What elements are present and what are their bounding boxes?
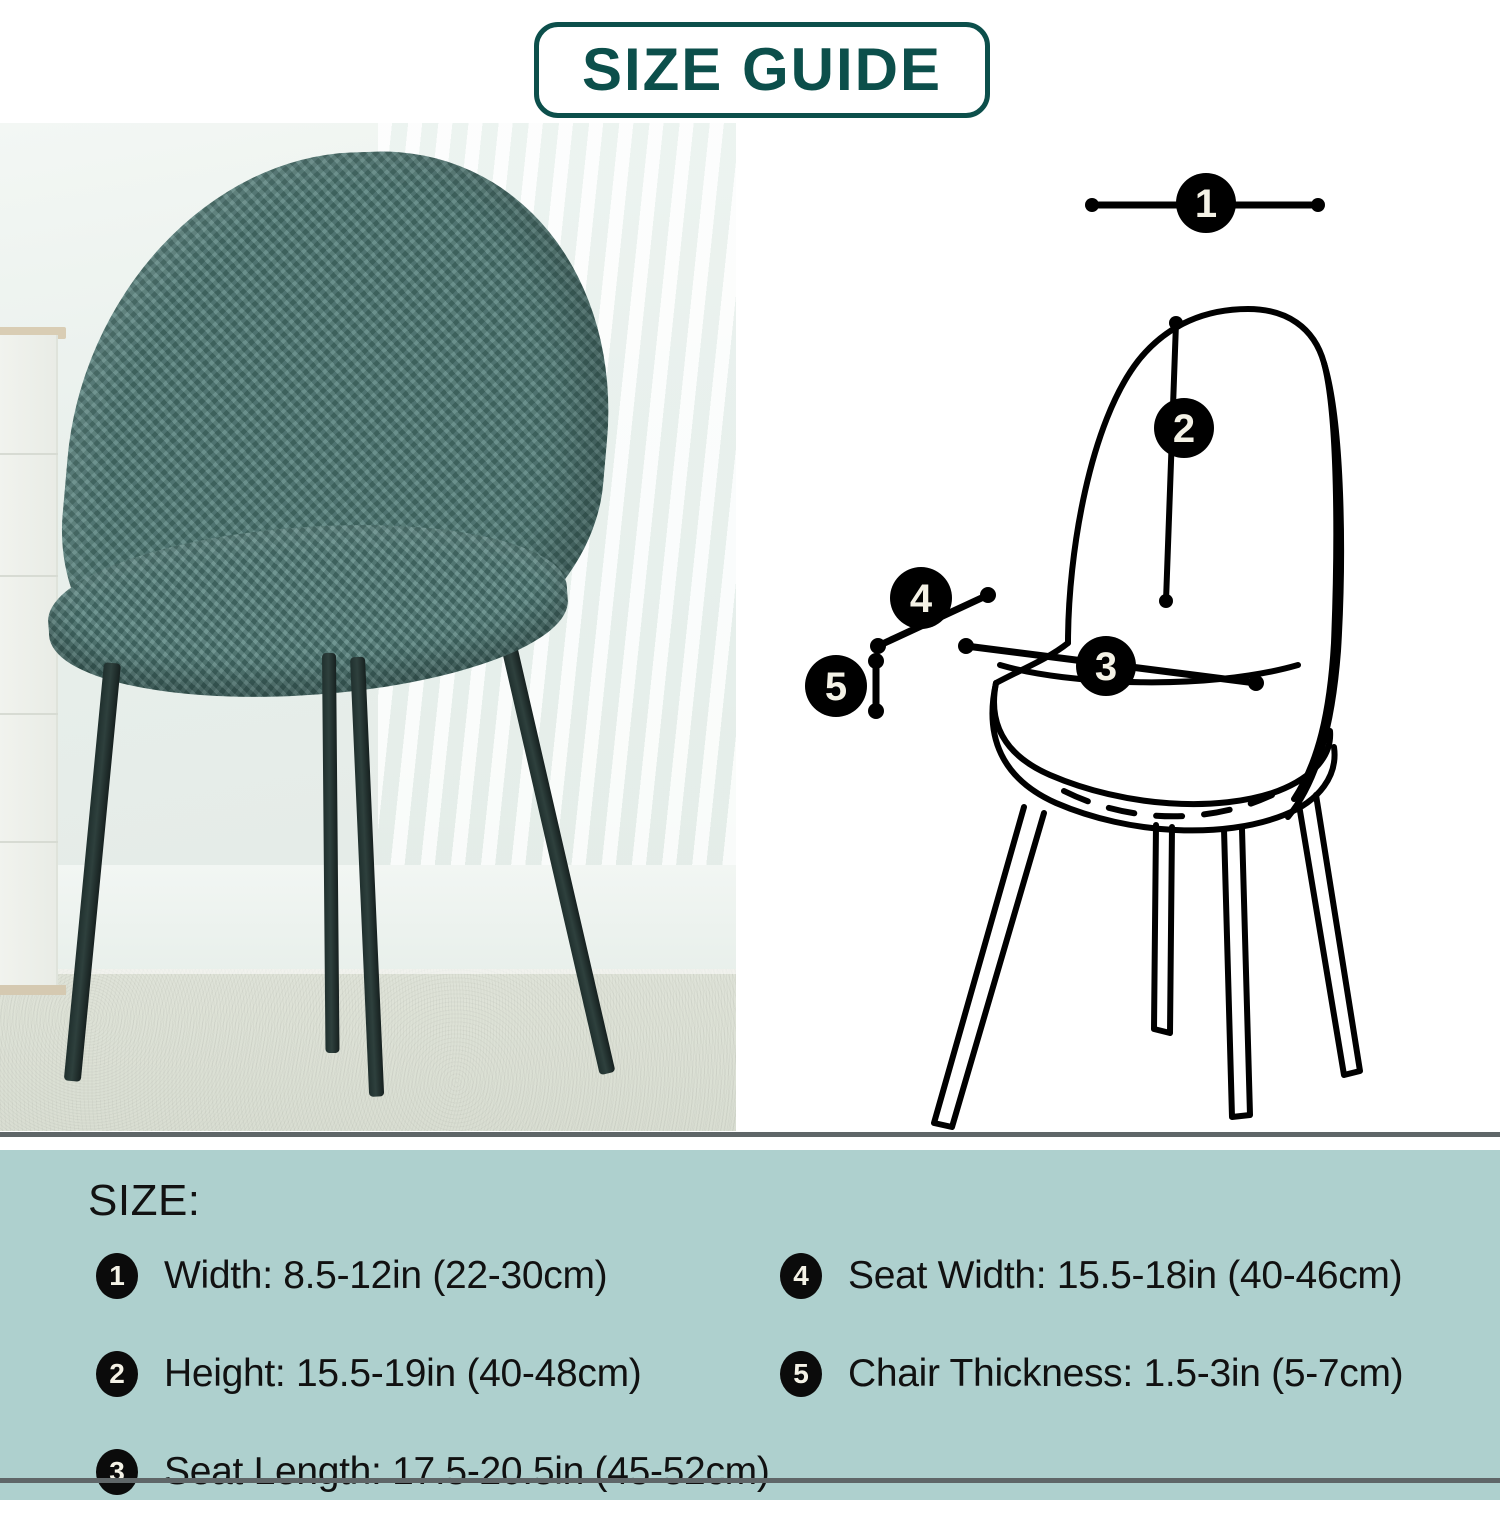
spec-column-right: 4 Seat Width: 15.5-18in (40-46cm) 5 Chai… — [780, 1243, 1480, 1439]
divider-bottom — [0, 1478, 1500, 1483]
list-item: 5 Chair Thickness: 1.5-3in (5-7cm) — [780, 1341, 1480, 1407]
spec-text-1: Width: 8.5-12in (22-30cm) — [164, 1254, 607, 1298]
spec-text-5: Chair Thickness: 1.5-3in (5-7cm) — [848, 1352, 1403, 1396]
list-item: 1 Width: 8.5-12in (22-30cm) — [96, 1243, 796, 1309]
chair-legs-outline — [934, 795, 1360, 1127]
size-guide-title-badge: SIZE GUIDE — [534, 22, 990, 118]
list-item: 3 Seat Length: 17.5-20.5in (45-52cm) — [96, 1439, 796, 1505]
cabinet-base — [0, 985, 66, 995]
cabinet-drawer-line — [0, 841, 58, 843]
product-photo — [0, 123, 736, 1131]
measurement-diagram: 1 2 3 4 — [738, 123, 1500, 1131]
marker-2-label: 2 — [1173, 407, 1195, 451]
divider-above-spec-panel — [0, 1132, 1500, 1137]
chair-diagram-svg: 1 2 3 4 — [738, 123, 1500, 1131]
spec-column-left: 1 Width: 8.5-12in (22-30cm) 2 Height: 15… — [96, 1243, 796, 1537]
spec-badge-2: 2 — [96, 1351, 138, 1397]
spec-text-2: Height: 15.5-19in (40-48cm) — [164, 1352, 641, 1396]
marker-4: 4 — [890, 567, 952, 629]
measure-line-5 — [868, 653, 884, 719]
marker-1-label: 1 — [1195, 182, 1217, 226]
cabinet — [0, 335, 58, 995]
cabinet-drawer-line — [0, 575, 58, 577]
spec-badge-4: 4 — [780, 1253, 822, 1299]
list-item: 4 Seat Width: 15.5-18in (40-46cm) — [780, 1243, 1480, 1309]
marker-2: 2 — [1154, 398, 1214, 458]
cabinet-drawer-line — [0, 713, 58, 715]
spec-badge-5: 5 — [780, 1351, 822, 1397]
spec-heading: SIZE: — [88, 1176, 201, 1226]
marker-4-label: 4 — [910, 577, 933, 621]
marker-1: 1 — [1176, 173, 1236, 233]
spec-badge-3: 3 — [96, 1449, 138, 1495]
spec-text-3: Seat Length: 17.5-20.5in (45-52cm) — [164, 1450, 770, 1494]
marker-5: 5 — [805, 655, 867, 717]
cabinet-drawer-line — [0, 453, 58, 455]
measure-line-2 — [1159, 316, 1183, 608]
marker-3-label: 3 — [1095, 645, 1117, 689]
marker-3: 3 — [1076, 636, 1136, 696]
list-item: 2 Height: 15.5-19in (40-48cm) — [96, 1341, 796, 1407]
spec-text-4: Seat Width: 15.5-18in (40-46cm) — [848, 1254, 1402, 1298]
marker-5-label: 5 — [825, 665, 847, 709]
page-title: SIZE GUIDE — [582, 40, 942, 100]
spec-badge-1: 1 — [96, 1253, 138, 1299]
